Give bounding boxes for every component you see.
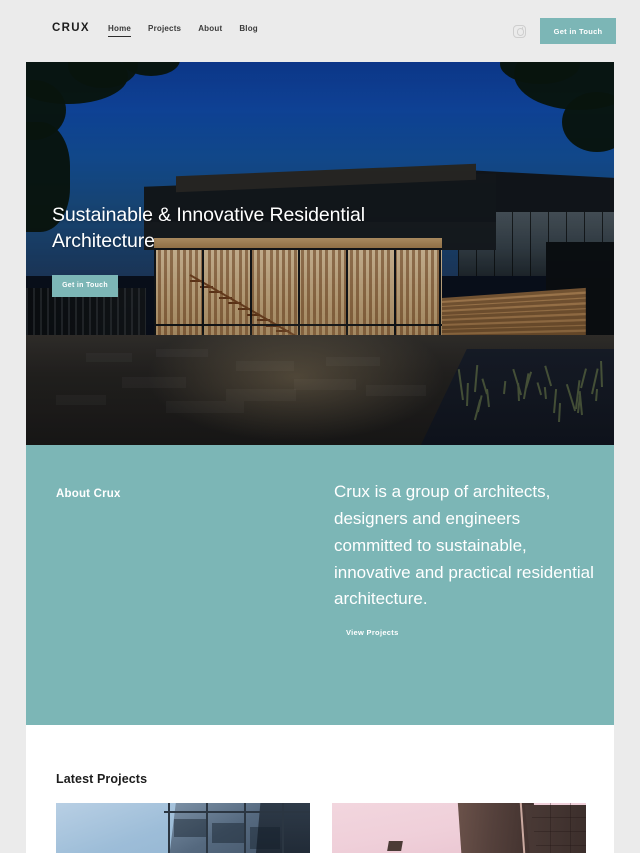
- glass-panel: [212, 823, 244, 843]
- glass-panel: [174, 819, 206, 837]
- tower-line: [534, 831, 586, 832]
- hero-section: Sustainable & Innovative Residential Arc…: [26, 62, 614, 445]
- site-logo[interactable]: CRUX: [52, 22, 90, 34]
- about-heading: About Crux: [56, 488, 121, 500]
- about-body-text: Crux is a group of architects, designers…: [334, 479, 602, 613]
- nav-link-blog[interactable]: Blog: [239, 24, 258, 37]
- page-root: CRUX Home Projects About Blog Get in Tou…: [0, 0, 640, 853]
- nav-link-about[interactable]: About: [198, 24, 222, 37]
- facade-frame: [282, 803, 284, 853]
- site-header: CRUX Home Projects About Blog Get in Tou…: [0, 0, 640, 62]
- small-building: [387, 841, 403, 851]
- project-card[interactable]: [332, 803, 586, 853]
- nav-link-projects[interactable]: Projects: [148, 24, 181, 37]
- project-grid: [56, 803, 586, 853]
- latest-projects-section: Latest Projects: [26, 725, 614, 853]
- about-section: About Crux Crux is a group of architects…: [26, 445, 614, 725]
- tower-line: [532, 817, 586, 818]
- instagram-icon[interactable]: [513, 25, 526, 38]
- hero-title: Sustainable & Innovative Residential Arc…: [52, 202, 412, 255]
- content-container: Sustainable & Innovative Residential Arc…: [26, 62, 614, 853]
- header-get-in-touch-button[interactable]: Get in Touch: [540, 18, 616, 44]
- facade-frame: [206, 803, 208, 853]
- view-projects-link[interactable]: View Projects: [346, 628, 399, 637]
- nav-link-home[interactable]: Home: [108, 24, 131, 37]
- tower-line: [536, 845, 586, 846]
- facade-frame: [168, 803, 170, 853]
- facade-frame: [164, 811, 310, 813]
- latest-projects-heading: Latest Projects: [56, 772, 147, 786]
- tower-line: [550, 803, 551, 853]
- project-card[interactable]: [56, 803, 310, 853]
- header-actions: Get in Touch: [513, 18, 616, 44]
- hero-content: Sustainable & Innovative Residential Arc…: [52, 202, 412, 297]
- tower-line: [570, 803, 571, 853]
- facade-frame: [244, 803, 246, 853]
- glass-panel: [250, 827, 280, 849]
- hero-get-in-touch-button[interactable]: Get in Touch: [52, 275, 118, 297]
- primary-navigation: Home Projects About Blog: [108, 24, 258, 37]
